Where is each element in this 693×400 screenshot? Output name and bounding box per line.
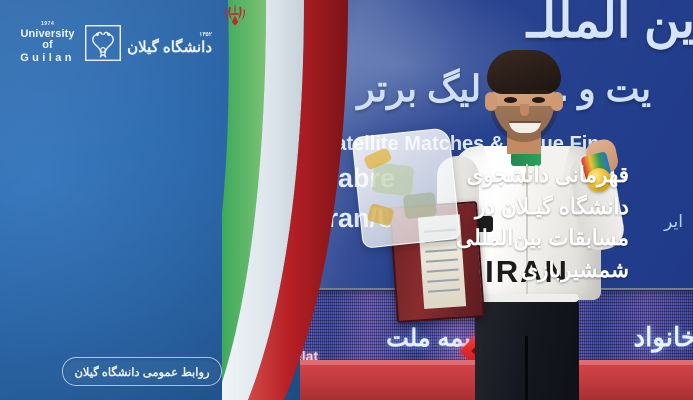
- certificate-text-line: [428, 288, 460, 292]
- logo-english-line2: Guilan: [16, 53, 79, 64]
- athlete-hair: [487, 50, 561, 94]
- gift-bag-content: [367, 203, 395, 227]
- trousers-leg-split: [525, 336, 528, 400]
- athlete-ear-left: [485, 92, 497, 111]
- logo-english-text: 1974 University of Guilan: [16, 22, 79, 64]
- iran-flag-ribbon: [222, 0, 348, 400]
- logo-persian-name: دانشگاه گیلان: [127, 40, 212, 55]
- iran-national-emblem-icon: [222, 0, 248, 28]
- athlete-nose: [520, 104, 529, 116]
- athlete-ear-right: [551, 92, 563, 111]
- trousers-waistband: [475, 294, 579, 302]
- athlete-eyebrow-right: [529, 90, 548, 94]
- university-crest-icon: [84, 24, 122, 62]
- athlete-eyebrow-left: [501, 90, 520, 94]
- athlete-eye-left: [504, 97, 517, 103]
- headline-text: قهرمانی دانشجوی دانشگاه گیـلان در مسابقا…: [401, 160, 629, 286]
- banner-image: ین المللـ یت و ...نال لیگ برتر Satellite…: [0, 0, 693, 400]
- led-sponsor-persian-right: خانواد: [634, 322, 693, 353]
- logo-founding-year-fa: ۱۳۵۲: [127, 32, 212, 38]
- logo-english-line1: University of: [16, 29, 79, 51]
- logo-persian-text: ۱۳۵۲ دانشگاه گیلان: [127, 32, 212, 55]
- athlete-eye-right: [532, 97, 545, 103]
- public-relations-badge: روابط عمومی دانشگاه گیلان: [62, 357, 222, 386]
- university-logo: 1974 University of Guilan ۱۳۵۲ دانشگاه گ…: [16, 20, 212, 66]
- logo-founding-year-en: 1974: [16, 22, 79, 28]
- backdrop-persian-small: ایر: [664, 212, 683, 232]
